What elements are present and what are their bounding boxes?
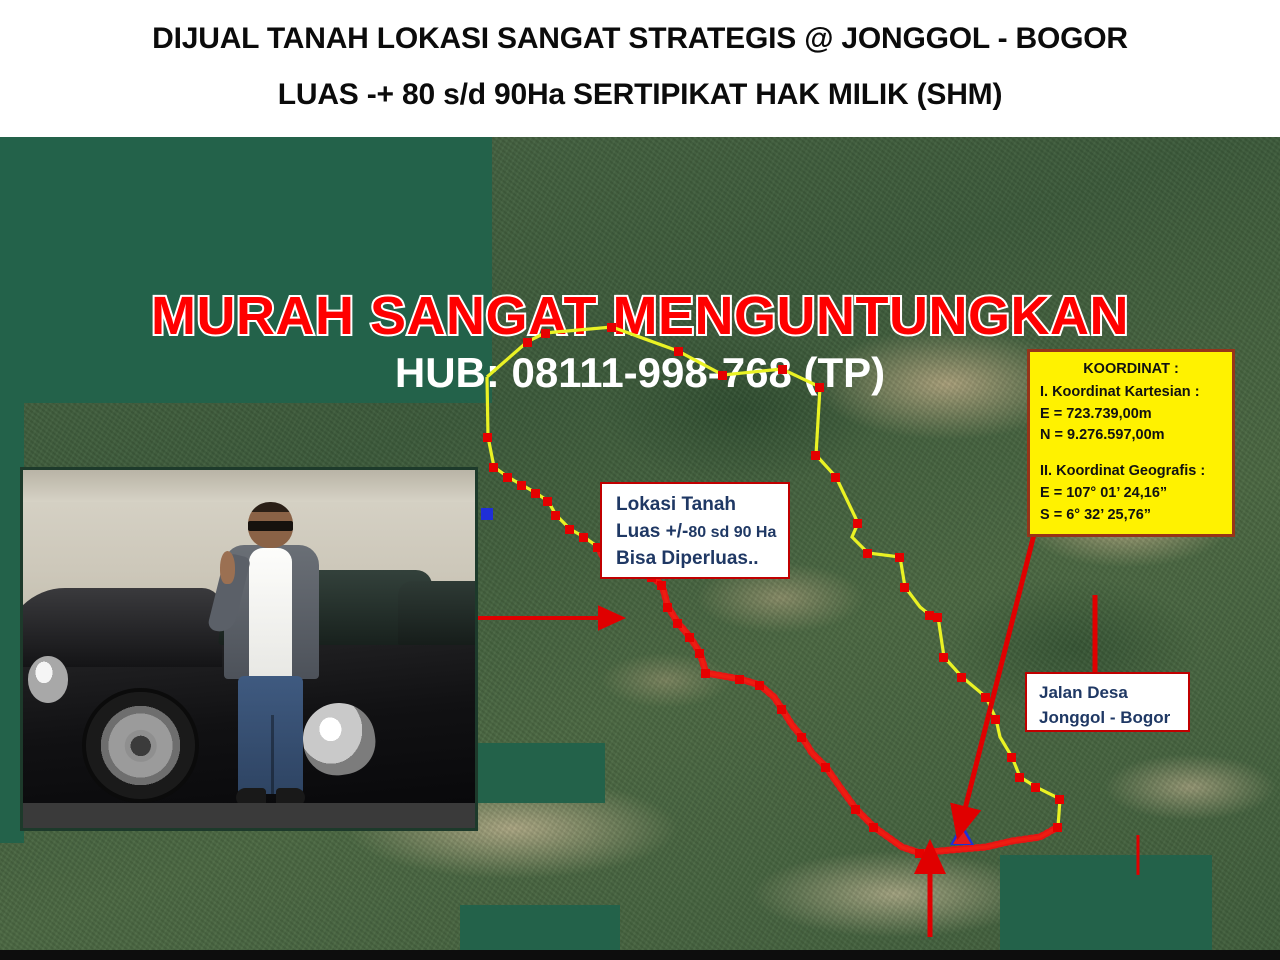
photo-person [222, 502, 321, 806]
callout-jalan-line-2: Jonggol - Bogor [1039, 706, 1188, 731]
coordinate-geo-south: S = 6° 32’ 25,76” [1040, 507, 1151, 523]
photo-car-hood [20, 588, 222, 667]
callout-jalan-line-1: Jalan Desa [1039, 681, 1188, 706]
coordinate-geo-east: E = 107° 01’ 24,16” [1040, 485, 1167, 501]
photo-person-shirt [249, 548, 293, 688]
photo-car-wheel-hub [124, 730, 157, 762]
boundary-vertex-markers [483, 323, 1064, 858]
photo-bottom-strip [23, 803, 475, 828]
coordinate-section-2-title: II. Koordinat Geografis : [1040, 463, 1205, 479]
map-marker-triangle [950, 823, 974, 845]
callout-lokasi-line-3: Bisa Diperluas.. [616, 546, 788, 573]
callout-lokasi-line-2b: 80 sd 90 Ha [688, 524, 776, 541]
photo-car-wheel [86, 692, 194, 799]
bottom-black-bar [0, 950, 1280, 960]
coordinate-info-box: KOORDINAT : I. Koordinat Kartesian : E =… [1027, 349, 1235, 537]
photo-person-thumbs-up [220, 551, 235, 584]
header-title-line-1: DIJUAL TANAH LOKASI SANGAT STRATEGIS @ J… [0, 22, 1280, 56]
coordinate-easting: E = 723.739,00m [1040, 406, 1152, 422]
boundary-highlight-south [706, 673, 1058, 853]
callout-lokasi-tanah: Lokasi Tanah Luas +/-80 sd 90 Ha Bisa Di… [600, 482, 790, 579]
photo-car-window-rear [398, 581, 478, 645]
agent-photo-inset [20, 467, 478, 831]
coordinate-box-spacer [1040, 447, 1232, 461]
photo-person-leg-split [271, 715, 274, 794]
callout-lokasi-line-1: Lokasi Tanah [616, 492, 788, 519]
coordinate-northing: N = 9.276.597,00m [1040, 427, 1165, 443]
header-banner: DIJUAL TANAH LOKASI SANGAT STRATEGIS @ J… [0, 0, 1280, 137]
callout-lokasi-line-2: Luas +/-80 sd 90 Ha [616, 519, 788, 546]
callout-jalan-desa: Jalan Desa Jonggol - Bogor [1025, 672, 1190, 732]
photo-person-sunglasses [248, 521, 294, 530]
flyer-map-image: MURAH SANGAT MENGUNTUNGKAN HUB: 08111-99… [0, 137, 1280, 960]
callout-lokasi-line-2a: Luas +/- [616, 521, 688, 542]
coordinate-box-title: KOORDINAT : [1040, 359, 1232, 381]
header-title-line-2: LUAS -+ 80 s/d 90Ha SERTIPIKAT HAK MILIK… [0, 78, 1280, 112]
photo-car-headlight-left [28, 656, 69, 703]
coordinate-section-1-title: I. Koordinat Kartesian : [1040, 384, 1200, 400]
photo-background-ceiling [23, 470, 475, 502]
map-marker-blue-square [481, 508, 493, 520]
